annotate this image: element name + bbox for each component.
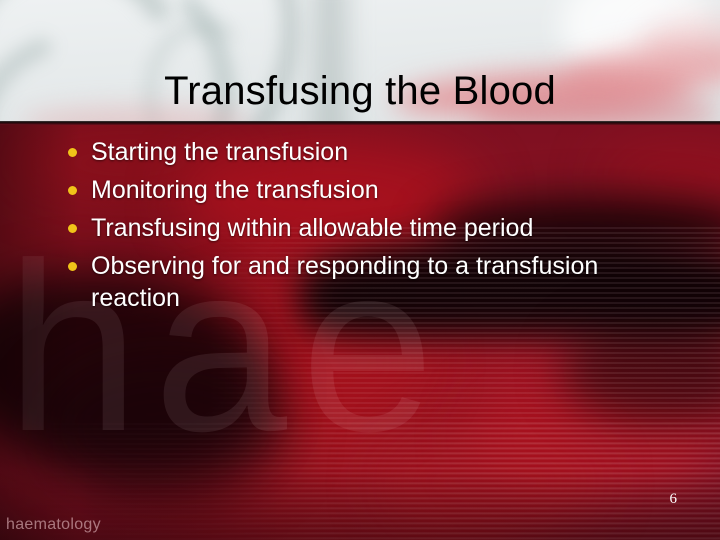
bullet-marker-icon [68, 186, 77, 195]
list-item[interactable]: Monitoring the transfusion [0, 174, 720, 206]
bullet-marker-icon [68, 262, 77, 271]
bullet-marker-icon [68, 224, 77, 233]
list-item-label: Starting the transfusion [91, 136, 691, 168]
list-item[interactable]: Starting the transfusion [0, 136, 720, 168]
slide-title: Transfusing the Blood [0, 68, 720, 115]
bottom-shade [0, 470, 720, 540]
band-divider [0, 121, 720, 125]
list-item-label: Observing for and responding to a transf… [91, 250, 691, 314]
list-item[interactable]: Observing for and responding to a transf… [0, 250, 720, 314]
list-item-label: Transfusing within allowable time period [91, 212, 691, 244]
page-number: 6 [670, 491, 678, 507]
footer-brand-label: haematology [6, 516, 101, 534]
bullet-marker-icon [68, 148, 77, 157]
list-item-label: Monitoring the transfusion [91, 174, 691, 206]
presentation-slide: Transfusing the Blood hae Starting the t… [0, 0, 720, 540]
bullet-list: Starting the transfusion Monitoring the … [0, 136, 720, 320]
list-item[interactable]: Transfusing within allowable time period [0, 212, 720, 244]
